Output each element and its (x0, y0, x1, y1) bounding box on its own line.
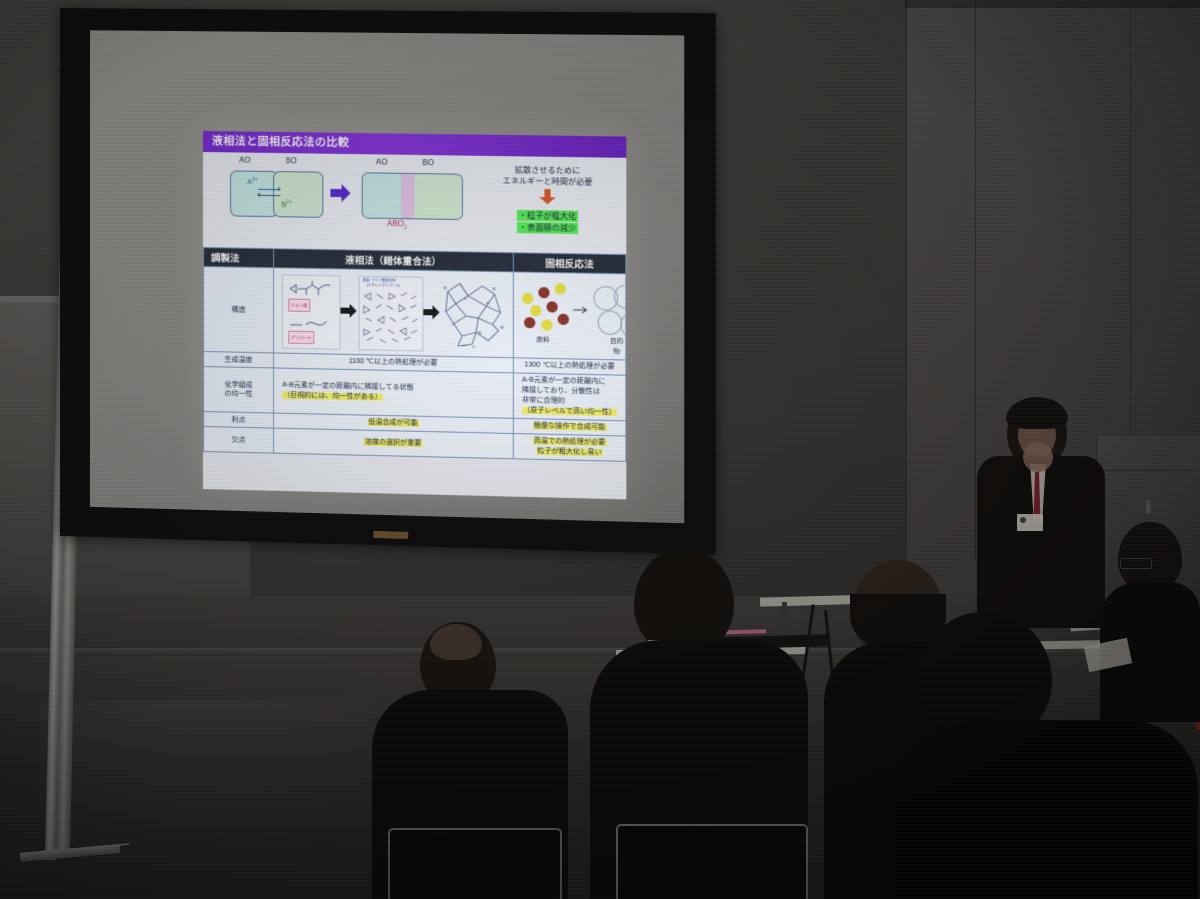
chair[interactable] (388, 828, 562, 899)
stand-foot-end (119, 844, 134, 859)
badge-photo-dot (1020, 517, 1026, 523)
product-formula: ABO2 (387, 219, 407, 231)
svg-text:B: B (444, 285, 447, 290)
rowlabel-temperature: 生成温度 (203, 352, 273, 368)
advantage-liquid-text: 低温合成が可能 (367, 419, 419, 427)
attendee-balding (372, 600, 572, 899)
ion-label-b: B2+ (281, 199, 292, 209)
svg-text:B: B (478, 330, 481, 335)
ion-label-a: A2+ (247, 177, 258, 187)
label-glycol: グリコール (288, 331, 314, 345)
header-method: 調製法 (203, 248, 273, 268)
product-box (362, 172, 463, 220)
rowlabel-disadvantages: 欠点 (203, 427, 273, 454)
disadvantage-solid-line-1: 高温での熱処理が必要 (533, 437, 607, 446)
reactant-box-bo (273, 171, 323, 218)
rowlabel-homogeneity: 化学組成 の均一性 (203, 367, 273, 414)
attendee-scalp (430, 624, 482, 660)
cell-disadvantages-liquid: 溶媒の選択が重要 (274, 428, 514, 459)
cell-disadvantages-solid: 高温での熱処理が必要 粒子が粗大化し易い (513, 434, 626, 462)
attendee-suit (890, 720, 1198, 899)
highlight-surface-area: ・表面積の減少 (517, 222, 578, 234)
sublabel-raw-material: 原料 (536, 335, 549, 345)
disadvantage-liquid-text: 溶媒の選択が重要 (364, 439, 423, 447)
svg-text:A: A (486, 300, 489, 305)
highlight-coarsening: ・粒子が粗大化 (517, 210, 578, 222)
raw-particle-yellow (530, 305, 541, 316)
polymer-note-2: (エチレングリコール) (367, 283, 400, 288)
presenter-hair (1006, 397, 1068, 429)
ceiling-band (905, 0, 1200, 8)
product-circle (598, 310, 623, 335)
wall-seam (905, 0, 907, 600)
door-knob[interactable] (1146, 500, 1151, 514)
rowlabel-homogeneity-l1: 化学組成 (224, 381, 252, 389)
reaction-arrow-icon (573, 306, 589, 314)
projected-slide: 液相法と固相反応法の比較 AO BO A2+ B2+ AO BO ABO2 拡散… (203, 131, 626, 499)
slide-top-diagram: AO BO A2+ B2+ AO BO ABO2 拡散させるために エネルギーと… (203, 152, 626, 254)
homog-liquid-line-2: （巨視的には、均一性がある） (282, 392, 383, 401)
product-region-bo (414, 174, 462, 219)
comparison-table: 調製法 液相法（錯体重合法） 固相反応法 構造 (203, 247, 626, 462)
label-BO-reactant: BO (285, 156, 297, 165)
product-interface-layer (401, 174, 414, 218)
raw-particle-yellow (555, 283, 566, 294)
label-citric-acid: クエン酸 (288, 299, 310, 312)
label-BO-product: BO (422, 158, 434, 167)
glycol-structure-icon (288, 315, 332, 332)
rowlabel-advantages: 利点 (203, 412, 273, 429)
chair[interactable] (616, 824, 808, 899)
cell-homogeneity-solid: A-B元素が一定の距離内に 隣接しており、分散性は 非常に合理的 （原子レベルで… (513, 373, 626, 421)
raw-particle-yellow (522, 293, 533, 304)
cell-homogeneity-liquid: A-B元素が一定の距離内に隣接してる状態 （巨視的には、均一性がある） (274, 368, 514, 418)
table-row-structure: 構造 クエン酸 (203, 267, 625, 361)
product-region-ao (363, 173, 401, 218)
raw-particle-dark (546, 301, 557, 312)
product-circle (620, 313, 626, 338)
screen-frame-latch (373, 531, 408, 539)
svg-text:B: B (501, 325, 504, 330)
diffusion-callout: 拡散させるために エネルギーと時間が必要 ・粒子が粗大化 ・表面積の減少 (473, 164, 622, 235)
homog-solid-line-4: （原子レベルで高い均一性） (522, 407, 617, 416)
advantage-solid-text: 簡便な操作で合成可能 (533, 422, 607, 431)
glasses-icon (1120, 558, 1152, 569)
label-AO-product: AO (376, 157, 388, 166)
black-arrow-icon (341, 304, 357, 318)
raw-particle-dark (524, 317, 535, 328)
rowlabel-structure: 構造 (203, 267, 273, 353)
sublabel-target-product: 目的物 (608, 337, 625, 358)
photo-scene: 液相法と固相反応法の比較 AO BO A2+ B2+ AO BO ABO2 拡散… (0, 0, 1200, 899)
purple-arrow-icon (330, 184, 350, 202)
polymer-network-icon: BAB AAB BA (442, 277, 509, 351)
door-seam (1104, 470, 1192, 471)
dispersed-monomers-icon (361, 290, 420, 347)
raw-particle-dark (558, 314, 569, 325)
black-arrow-icon (423, 305, 439, 319)
attendee-head (634, 548, 734, 654)
svg-text:A: A (452, 322, 455, 327)
cell-structure-liquid: クエン酸 グリコール 重量: クエン酸重合体 (274, 268, 514, 358)
disadvantage-solid-line-2: 粒子が粗大化し易い (536, 448, 602, 457)
attendee-center (590, 548, 810, 899)
attendee-front-right (890, 612, 1200, 899)
rowlabel-homogeneity-l2: の均一性 (224, 390, 252, 398)
svg-text:A: A (464, 296, 467, 301)
svg-text:B: B (492, 286, 495, 291)
cell-structure-solid: 原料 目的物 (513, 272, 626, 360)
presenter-hands (1023, 442, 1053, 472)
header-solid-phase: 固相反応法 (513, 253, 626, 274)
solid-phase-diagram: 原料 目的物 (514, 272, 625, 359)
label-AO-reactant: AO (239, 155, 251, 164)
raw-particle-dark (538, 287, 549, 298)
svg-text:A: A (472, 344, 475, 349)
polymer-note-1: 重量: クエン酸重合体 (363, 278, 396, 283)
callout-line-2: エネルギーと時間が必要 (473, 175, 622, 188)
liquid-phase-diagram: クエン酸 グリコール 重量: クエン酸重合体 (274, 268, 513, 357)
red-down-arrow-icon (539, 189, 555, 204)
raw-particle-yellow (541, 319, 552, 330)
